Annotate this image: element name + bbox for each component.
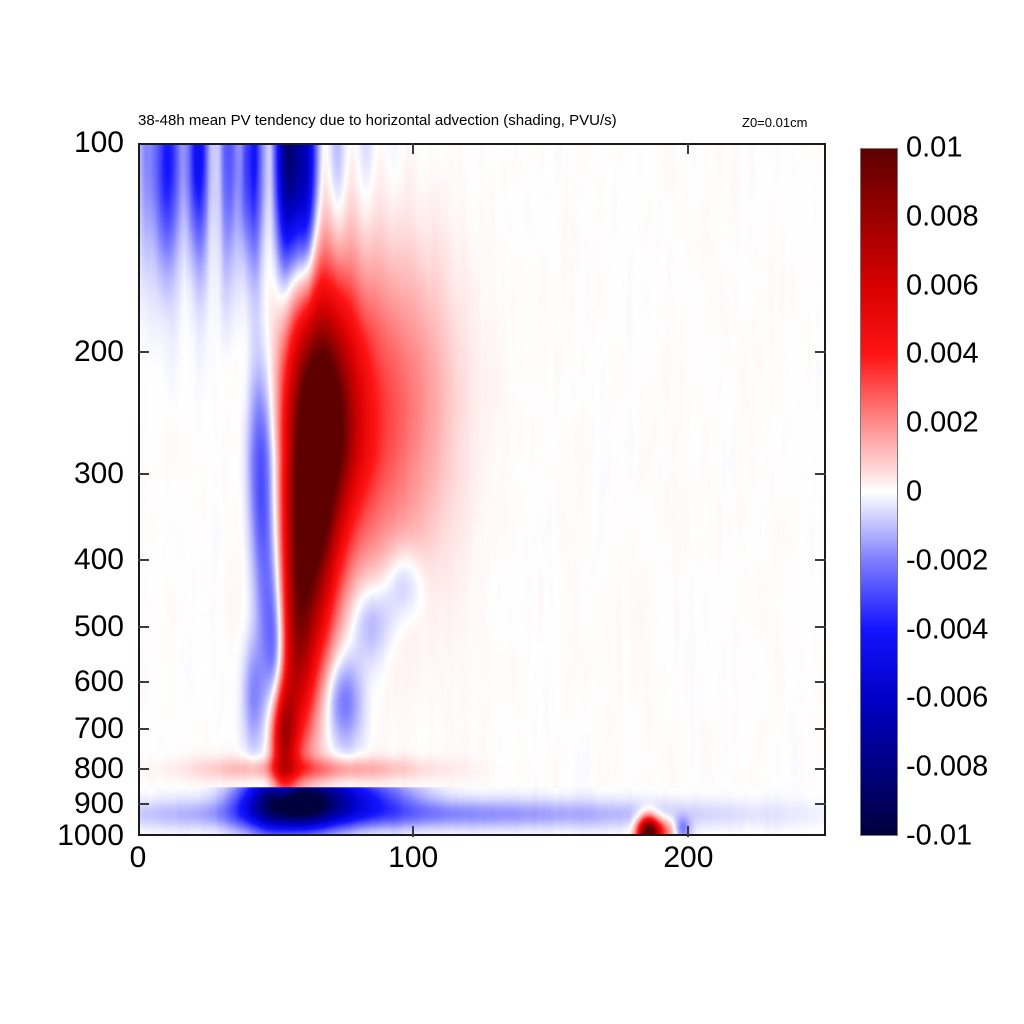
y-tick-mark-right bbox=[815, 681, 826, 683]
y-tick-label: 300 bbox=[4, 457, 124, 491]
colorbar-tick-label: 0.008 bbox=[906, 200, 979, 233]
colorbar bbox=[860, 148, 898, 836]
y-tick-mark bbox=[138, 803, 149, 805]
y-tick-mark-right bbox=[815, 626, 826, 628]
colorbar-tick-label: 0.01 bbox=[906, 132, 962, 165]
plot-title: 38-48h mean PV tendency due to horizonta… bbox=[138, 112, 617, 129]
y-tick-mark-right bbox=[815, 803, 826, 805]
colorbar-tick-label: 0 bbox=[906, 476, 922, 509]
colorbar-tick-label: -0.01 bbox=[906, 820, 972, 853]
y-tick-mark bbox=[138, 681, 149, 683]
y-tick-mark-right bbox=[815, 473, 826, 475]
y-tick-mark-right bbox=[815, 351, 826, 353]
colorbar-tick-label: 0.002 bbox=[906, 407, 979, 440]
y-tick-mark-right bbox=[815, 768, 826, 770]
y-tick-mark bbox=[138, 768, 149, 770]
z0-annotation: Z0=0.01cm bbox=[742, 115, 807, 130]
x-tick-mark bbox=[687, 826, 689, 837]
y-tick-label: 500 bbox=[4, 610, 124, 644]
colorbar-tick-label: -0.004 bbox=[906, 613, 988, 646]
y-tick-label: 600 bbox=[4, 665, 124, 699]
y-tick-label: 700 bbox=[4, 712, 124, 746]
y-tick-label: 1000 bbox=[4, 819, 124, 853]
x-tick-mark-top bbox=[687, 143, 689, 154]
heatmap-shading bbox=[140, 145, 824, 834]
x-tick-label: 0 bbox=[130, 841, 147, 875]
y-tick-mark bbox=[138, 559, 149, 561]
y-tick-label: 200 bbox=[4, 335, 124, 369]
y-tick-label: 400 bbox=[4, 543, 124, 577]
x-tick-mark bbox=[412, 826, 414, 837]
plot-area bbox=[138, 143, 826, 836]
x-tick-label: 100 bbox=[388, 841, 438, 875]
colorbar-tick-label: -0.006 bbox=[906, 682, 988, 715]
figure-canvas: 38-48h mean PV tendency due to horizonta… bbox=[0, 0, 1024, 1024]
colorbar-tick-label: 0.004 bbox=[906, 338, 979, 371]
y-tick-label: 100 bbox=[4, 126, 124, 160]
y-tick-label: 900 bbox=[4, 787, 124, 821]
y-tick-mark-right bbox=[815, 559, 826, 561]
x-tick-mark-top bbox=[412, 143, 414, 154]
colorbar-tick-label: 0.006 bbox=[906, 269, 979, 302]
y-tick-mark bbox=[138, 473, 149, 475]
y-tick-mark bbox=[138, 728, 149, 730]
y-tick-label: 800 bbox=[4, 752, 124, 786]
x-tick-label: 200 bbox=[663, 841, 713, 875]
colorbar-tick-label: -0.008 bbox=[906, 751, 988, 784]
colorbar-tick-label: -0.002 bbox=[906, 544, 988, 577]
y-tick-mark bbox=[138, 351, 149, 353]
y-tick-mark bbox=[138, 626, 149, 628]
y-tick-mark-right bbox=[815, 728, 826, 730]
